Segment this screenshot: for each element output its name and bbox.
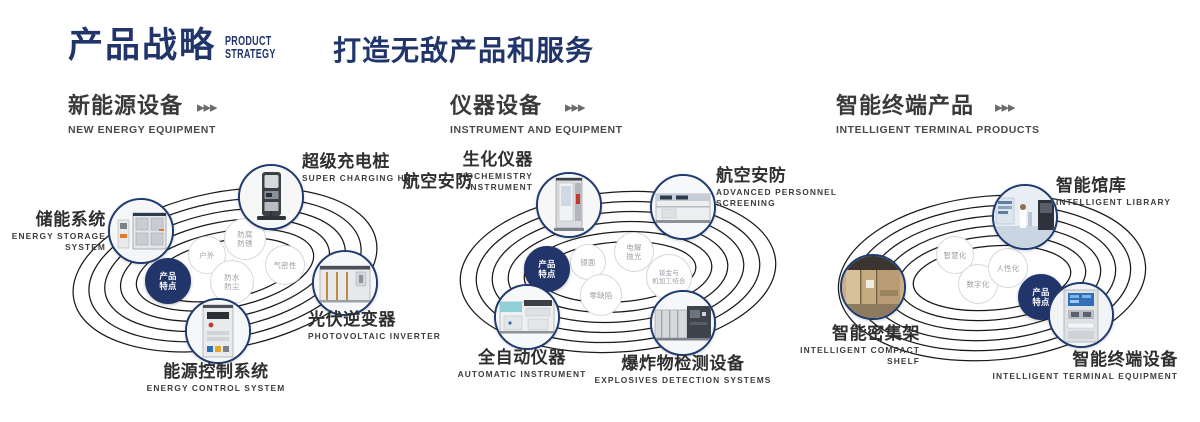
node-label-en: INTELLIGENT TERMINAL EQUIPMENT	[978, 371, 1178, 382]
section-title-en: INTELLIGENT TERMINAL PRODUCTS	[836, 124, 1040, 136]
node-advanced-personnel-screening[interactable]	[650, 174, 716, 240]
cluster-intelligent-terminal: 智慧化 数字化 人性化 产品 特点 智能馆库 INTELLIGENT LIBRA…	[810, 152, 1180, 392]
node-photovoltaic-inverter[interactable]	[312, 250, 378, 316]
chevron-right-icon: ▸▸▸	[565, 98, 585, 116]
page-title: 产品战略	[68, 28, 216, 63]
label-intelligent-library: 智能馆库 INTELLIGENT LIBRARY	[1056, 176, 1200, 208]
section-title-cn: 仪器设备	[450, 95, 623, 117]
node-label-cn: 能源控制系统	[86, 362, 346, 381]
terminal-kiosk-icon	[1050, 284, 1112, 346]
label-intelligent-compact-shelf: 智能密集架 INTELLIGENT COMPACT SHELF	[730, 324, 920, 366]
core-bubble-product-features: 产品 特点	[145, 258, 191, 304]
section-title-instrument: 仪器设备 ▸▸▸ INSTRUMENT AND EQUIPMENT	[450, 95, 623, 136]
node-explosives-detection-systems[interactable]	[650, 290, 716, 356]
poster-canvas: 产品战略 PRODUCT STRATEGY 打造无敌产品和服务 新能源设备 ▸▸…	[0, 0, 1200, 422]
node-label-cn: 智能终端设备	[978, 350, 1178, 369]
explosive-detector-icon	[652, 292, 714, 354]
node-label-cn: 航空安防	[383, 172, 473, 191]
label-automatic-instrument: 全自动仪器 AUTOMATIC INSTRUMENT	[418, 348, 626, 380]
control-cabinet-icon	[187, 300, 249, 362]
node-super-charging-hub[interactable]	[238, 164, 304, 230]
node-intelligent-compact-shelf[interactable]	[840, 254, 906, 320]
poster-header: 产品战略 PRODUCT STRATEGY	[68, 28, 295, 63]
node-automatic-instrument[interactable]	[494, 284, 560, 350]
node-label-en: ENERGY STORAGE SYSTEM	[0, 231, 106, 252]
node-label-cn: 生化仪器	[408, 150, 533, 169]
page-subtitle: 打造无敌产品和服务	[333, 34, 594, 68]
label-aviation-security-aux: 航空安防	[383, 172, 473, 191]
section-title-intelligent-terminal: 智能终端产品 ▸▸▸ INTELLIGENT TERMINAL PRODUCTS	[836, 95, 1040, 136]
node-biochemistry-instrument[interactable]	[536, 172, 602, 238]
page-title-english: PRODUCT STRATEGY	[225, 35, 276, 61]
biochem-analyzer-icon	[538, 174, 600, 236]
cluster-new-energy: 户外 防腐 防锈 防水 防尘 气密性 产品 特点 储能系统 ENERGY S	[40, 150, 410, 390]
pv-inverter-icon	[314, 252, 376, 314]
node-label-cn: 全自动仪器	[418, 348, 626, 367]
charging-pile-icon	[240, 166, 302, 228]
label-intelligent-terminal-equipment: 智能终端设备 INTELLIGENT TERMINAL EQUIPMENT	[978, 350, 1178, 382]
node-label-cn: 储能系统	[0, 210, 106, 229]
chevron-right-icon: ▸▸▸	[995, 98, 1015, 116]
node-intelligent-terminal-equipment[interactable]	[1048, 282, 1114, 348]
node-energy-storage-system[interactable]	[108, 198, 174, 264]
node-energy-control-system[interactable]	[185, 298, 251, 364]
battery-cabinet-icon	[110, 200, 172, 262]
node-label-cn: 智能馆库	[1056, 176, 1200, 195]
section-title-en: NEW ENERGY EQUIPMENT	[68, 124, 216, 136]
node-label-en: INTELLIGENT LIBRARY	[1056, 197, 1200, 208]
compact-shelf-icon	[842, 256, 904, 318]
node-label-en: ENERGY CONTROL SYSTEM	[86, 383, 346, 394]
section-title-en: INSTRUMENT AND EQUIPMENT	[450, 124, 623, 136]
label-energy-control-system: 能源控制系统 ENERGY CONTROL SYSTEM	[86, 362, 346, 394]
node-label-en: AUTOMATIC INSTRUMENT	[418, 369, 626, 380]
feature-bubble: 气密性	[265, 245, 305, 285]
screening-machine-icon	[652, 176, 714, 238]
feature-bubble: 零缺陷	[580, 274, 622, 316]
node-intelligent-library[interactable]	[992, 184, 1058, 250]
section-title-cn: 新能源设备	[68, 95, 216, 117]
chevron-right-icon: ▸▸▸	[197, 98, 217, 116]
automatic-instrument-icon	[496, 286, 558, 348]
node-label-cn: 智能密集架	[730, 324, 920, 343]
node-label-en: INTELLIGENT COMPACT SHELF	[730, 345, 920, 366]
section-title-new-energy: 新能源设备 ▸▸▸ NEW ENERGY EQUIPMENT	[68, 95, 216, 136]
label-energy-storage-system: 储能系统 ENERGY STORAGE SYSTEM	[0, 210, 106, 252]
library-room-icon	[994, 186, 1056, 248]
